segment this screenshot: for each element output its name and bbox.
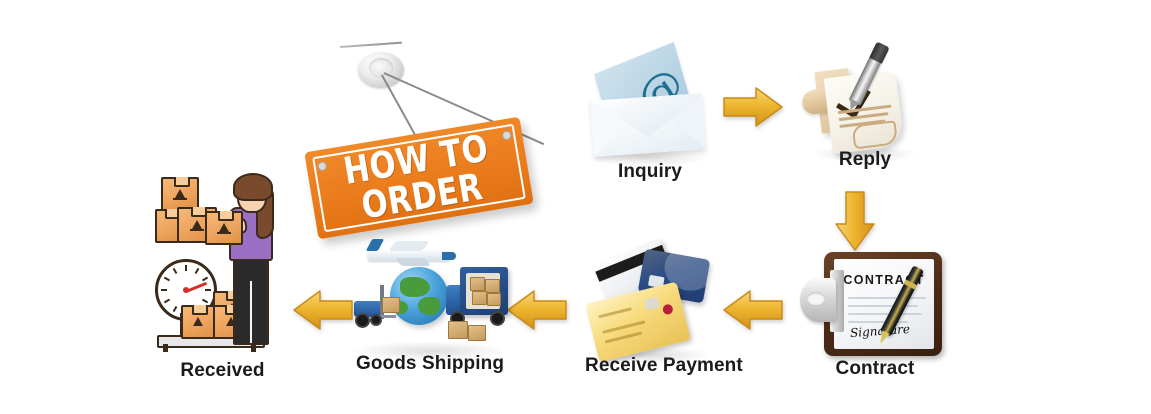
sign-title: HOW TO ORDER bbox=[314, 125, 524, 231]
cargo-box bbox=[485, 279, 500, 293]
platform-box bbox=[181, 305, 215, 339]
worker-scale-boxes-icon bbox=[155, 175, 290, 355]
arrow-down-reply-to-contract bbox=[833, 190, 877, 252]
box-fragile-mark bbox=[219, 223, 229, 232]
pen-cap bbox=[869, 41, 889, 63]
label-receive-payment: Receive Payment bbox=[585, 355, 720, 377]
globe-landmass bbox=[400, 277, 430, 297]
arrow-left-payment-to-shipping bbox=[506, 288, 568, 332]
step-receive-payment: Receive Payment bbox=[585, 248, 720, 363]
scale-tick bbox=[202, 299, 208, 304]
contract-text-line bbox=[848, 305, 918, 307]
arrow-right-inquiry-to-reply bbox=[722, 85, 784, 129]
step-reply: Reply bbox=[800, 46, 930, 176]
label-goods-shipping: Goods Shipping bbox=[350, 353, 510, 375]
cargo-box bbox=[487, 293, 501, 306]
scale-foot bbox=[163, 344, 168, 352]
forklift-wheel bbox=[355, 313, 370, 328]
scale-tick bbox=[205, 289, 211, 291]
scale-tick bbox=[202, 277, 208, 282]
contract-text-line bbox=[848, 313, 922, 315]
airplane-icon bbox=[368, 247, 452, 263]
scale-tick bbox=[185, 265, 187, 271]
worker-legs bbox=[233, 255, 269, 345]
box-fragile-mark bbox=[193, 317, 203, 326]
pallet-box bbox=[382, 297, 400, 313]
box-fragile-mark bbox=[192, 220, 202, 229]
step-contract: CONTRACT Signature Contract bbox=[800, 250, 950, 370]
forklift-fork bbox=[380, 315, 396, 318]
leg-divider bbox=[250, 281, 252, 343]
plane-globe-truck-icon bbox=[350, 245, 510, 365]
step-received: Received bbox=[155, 175, 290, 355]
ground-box bbox=[468, 325, 486, 341]
box-tape bbox=[218, 211, 234, 221]
how-to-order-infographic: HOW TO ORDER @ Inquiry bbox=[0, 0, 1151, 414]
clipboard-contract-pen-icon: CONTRACT Signature bbox=[800, 250, 950, 370]
label-reply: Reply bbox=[800, 149, 930, 171]
step-goods-shipping: Goods Shipping bbox=[350, 245, 510, 365]
step-inquiry: @ Inquiry bbox=[580, 55, 720, 190]
plane-wing-top bbox=[388, 241, 429, 251]
label-inquiry: Inquiry bbox=[580, 161, 720, 183]
label-contract: Contract bbox=[800, 358, 950, 380]
truck-wheel bbox=[490, 311, 505, 326]
box-tape bbox=[174, 177, 190, 187]
box-tape bbox=[192, 305, 208, 315]
stacked-box bbox=[161, 177, 199, 211]
box-fragile-bar bbox=[190, 229, 204, 231]
clipboard-clip-hole bbox=[807, 292, 825, 305]
scale-tick bbox=[161, 289, 167, 291]
globe-landmass bbox=[418, 297, 440, 315]
how-to-order-sign: HOW TO ORDER bbox=[296, 38, 546, 248]
scale-needle-hub bbox=[183, 287, 189, 293]
held-box bbox=[205, 211, 243, 245]
cargo-box bbox=[472, 291, 487, 305]
scale-tick bbox=[164, 299, 170, 304]
envelope-at-icon: @ bbox=[586, 55, 712, 153]
credit-card-gold bbox=[585, 282, 691, 363]
ground-box bbox=[448, 321, 468, 339]
envelope-body bbox=[590, 93, 706, 157]
box-fragile-bar bbox=[217, 232, 231, 234]
scale-tick bbox=[173, 306, 178, 312]
scroll-signature-squiggle bbox=[852, 120, 899, 149]
scale-tick bbox=[164, 277, 170, 282]
card-line bbox=[598, 307, 632, 318]
card-hologram bbox=[662, 303, 674, 315]
credit-cards-icon bbox=[585, 248, 720, 363]
box-fragile-bar bbox=[173, 198, 187, 200]
scale-tick bbox=[195, 268, 200, 274]
worker-hair bbox=[233, 173, 273, 201]
forklift-icon bbox=[354, 293, 394, 323]
sign-plate: HOW TO ORDER bbox=[304, 117, 534, 240]
arrow-left-shipping-to-received bbox=[292, 288, 354, 332]
plane-nose bbox=[442, 252, 456, 260]
pen-band bbox=[904, 280, 917, 290]
card-chip bbox=[644, 297, 660, 311]
forklift-wheel bbox=[370, 314, 382, 326]
contract-text-line bbox=[848, 297, 926, 299]
sign-rod bbox=[340, 42, 402, 48]
box-fragile-mark bbox=[175, 189, 185, 198]
scale-foot bbox=[251, 344, 256, 352]
cargo-box bbox=[470, 277, 485, 291]
label-received: Received bbox=[155, 360, 290, 382]
card-line bbox=[605, 331, 643, 343]
clipboard-clip bbox=[800, 278, 836, 322]
truck-cargo-box bbox=[460, 267, 508, 315]
arrow-left-contract-to-payment bbox=[722, 288, 784, 332]
scale-tick bbox=[173, 268, 178, 274]
globe-icon bbox=[390, 267, 448, 325]
plane-wing-bottom bbox=[395, 258, 431, 266]
